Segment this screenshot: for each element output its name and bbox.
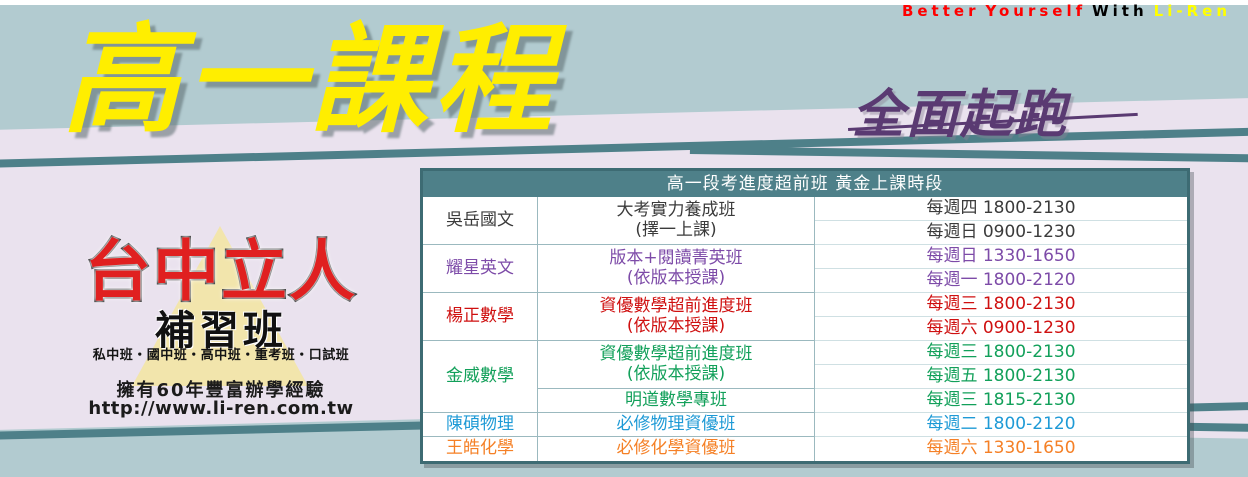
teacher-cell: 耀星英文 [423,245,537,293]
course-cell: 版本+閱讀菁英班(依版本授課) [538,245,814,293]
teacher-cell: 王皓化學 [423,437,537,461]
time-cell: 每週一 1800-2120 [815,269,1187,293]
schedule-table-header: 高一段考進度超前班 黃金上課時段 [423,171,1187,197]
time-cell: 每週三 1815-2130 [815,389,1187,413]
tagline-word-3: Li-Ren [1151,2,1234,20]
time-cell: 每週六 0900-1230 [815,317,1187,341]
page-subtitle: 全面起跑 [852,72,1068,147]
course-cell-text: 明道數學專班 [625,391,727,411]
time-cell: 每週六 1330-1650 [815,437,1187,461]
course-cell: 資優數學超前進度班(依版本授課) [538,293,814,341]
tagline-word-2: With [1089,2,1151,20]
teacher-cell: 楊正數學 [423,293,537,341]
poster-canvas: BetterYourselfWithLi-Ren 高一課程 全面起跑 台中立人 … [0,0,1248,477]
teacher-cell: 陳碩物理 [423,413,537,437]
course-cell-text: 資優數學超前進度班(依版本授課) [600,345,753,384]
brand-logo: 台中立人 補習班 私中班・國中班・高中班・重考班・口試班 擁有60年豐富辦學經驗… [46,218,396,418]
schedule-table: 高一段考進度超前班 黃金上課時段 吳岳國文耀星英文楊正數學金威數學陳碩物理王皓化… [420,168,1190,464]
time-cell: 每週四 1800-2130 [815,197,1187,221]
course-cell-text: 資優數學超前進度班(依版本授課) [600,297,753,336]
course-cell: 明道數學專班 [538,389,814,413]
time-cell: 每週二 1800-2120 [815,413,1187,437]
course-cell-text: 必修物理資優班 [617,415,736,435]
logo-class-list: 私中班・國中班・高中班・重考班・口試班 [46,344,396,363]
course-cell: 大考實力養成班(擇一上課) [538,197,814,245]
column-teacher: 吳岳國文耀星英文楊正數學金威數學陳碩物理王皓化學 [423,197,537,461]
teacher-cell: 吳岳國文 [423,197,537,245]
time-cell: 每週日 0900-1230 [815,221,1187,245]
course-cell: 資優數學超前進度班(依版本授課) [538,341,814,389]
tagline-word-0: Better [899,2,983,20]
time-cell: 每週五 1800-2130 [815,365,1187,389]
course-cell-text: 版本+閱讀菁英班(依版本授課) [609,249,742,288]
course-cell-text: 必修化學資優班 [617,439,736,459]
course-cell: 必修物理資優班 [538,413,814,437]
teacher-cell: 金威數學 [423,341,537,413]
tagline-word-1: Yourself [982,2,1089,20]
course-cell: 必修化學資優班 [538,437,814,461]
column-course: 大考實力養成班(擇一上課)版本+閱讀菁英班(依版本授課)資優數學超前進度班(依版… [537,197,815,461]
time-cell: 每週三 1800-2130 [815,341,1187,365]
course-cell-text: 大考實力養成班(擇一上課) [617,201,736,240]
page-title: 高一課程 [62,14,558,146]
schedule-table-body: 吳岳國文耀星英文楊正數學金威數學陳碩物理王皓化學 大考實力養成班(擇一上課)版本… [423,197,1187,461]
time-cell: 每週三 1800-2130 [815,293,1187,317]
time-cell: 每週日 1330-1650 [815,245,1187,269]
column-time: 每週四 1800-2130每週日 0900-1230每週日 1330-1650每… [815,197,1187,461]
logo-website-url[interactable]: http://www.li-ren.com.tw [46,398,396,419]
